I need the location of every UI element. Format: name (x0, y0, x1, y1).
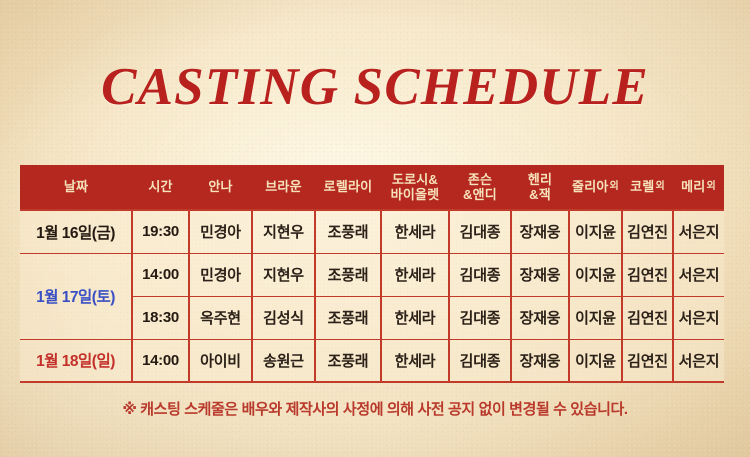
cell-actor: 한세라 (381, 296, 449, 339)
cell-actor: 장재웅 (511, 253, 569, 296)
column-header-label: 존슨 (468, 172, 492, 187)
cell-actor: 서은지 (673, 253, 724, 296)
cell-actor: 한세라 (381, 253, 449, 296)
cell-actor: 김대종 (449, 296, 511, 339)
cell-actor: 민경아 (189, 210, 252, 253)
column-header-8: 줄리아외 (569, 165, 622, 210)
cell-actor: 서은지 (673, 339, 724, 382)
cell-actor: 송원근 (252, 339, 315, 382)
cell-actor: 장재웅 (511, 210, 569, 253)
disclaimer-note: ※ 캐스팅 스케줄은 배우와 제작사의 사정에 의해 사전 공지 없이 변경될 … (0, 398, 750, 419)
cell-actor: 김대종 (449, 210, 511, 253)
column-header-label-line2: &앤디 (449, 187, 511, 202)
column-header-label: 도로시& (392, 172, 438, 187)
column-header-label: 헨리 (528, 172, 552, 187)
column-header-6: 존슨&앤디 (449, 165, 511, 210)
column-header-7: 헨리&잭 (511, 165, 569, 210)
cell-actor: 서은지 (673, 210, 724, 253)
column-header-label: 브라운 (265, 179, 301, 194)
cell-actor: 서은지 (673, 296, 724, 339)
column-header-0: 날짜 (20, 165, 132, 210)
casting-schedule-table: 날짜시간안나브라운로렐라이도로시&바이올렛존슨&앤디헨리&잭줄리아외코렐외메리외… (20, 165, 724, 383)
cell-actor: 조풍래 (315, 296, 381, 339)
cell-time: 14:00 (132, 253, 189, 296)
cell-actor: 지현우 (252, 210, 315, 253)
cell-actor: 한세라 (381, 339, 449, 382)
page-title: CASTING SCHEDULE (0, 57, 750, 117)
column-header-10: 메리외 (673, 165, 724, 210)
cell-actor: 민경아 (189, 253, 252, 296)
cell-actor: 아이비 (189, 339, 252, 382)
table-header: 날짜시간안나브라운로렐라이도로시&바이올렛존슨&앤디헨리&잭줄리아외코렐외메리외 (20, 165, 724, 210)
cell-actor: 김연진 (622, 296, 673, 339)
cell-actor: 장재웅 (511, 339, 569, 382)
column-header-label: 코렐 (630, 179, 654, 194)
poster-background: CASTING SCHEDULE 날짜시간안나브라운로렐라이도로시&바이올렛존슨… (0, 0, 750, 457)
column-header-label: 줄리아 (572, 179, 608, 194)
column-header-label: 로렐라이 (324, 179, 373, 194)
column-header-1: 시간 (132, 165, 189, 210)
column-header-label-line2: &잭 (511, 187, 569, 202)
column-header-label-line2: 바이올렛 (381, 187, 449, 202)
column-header-5: 도로시&바이올렛 (381, 165, 449, 210)
table-row: 1월 16일(금)19:30민경아지현우조풍래한세라김대종장재웅이지윤김연진서은… (20, 210, 724, 253)
table-row: 1월 17일(토)14:00민경아지현우조풍래한세라김대종장재웅이지윤김연진서은… (20, 253, 724, 296)
cell-date: 1월 16일(금) (20, 210, 132, 253)
cell-actor: 이지윤 (569, 210, 622, 253)
cell-actor: 조풍래 (315, 210, 381, 253)
table-row: 1월 18일(일)14:00아이비송원근조풍래한세라김대종장재웅이지윤김연진서은… (20, 339, 724, 382)
table-body: 1월 16일(금)19:30민경아지현우조풍래한세라김대종장재웅이지윤김연진서은… (20, 210, 724, 382)
column-header-2: 안나 (189, 165, 252, 210)
cell-actor: 조풍래 (315, 339, 381, 382)
column-header-suffix: 외 (655, 181, 664, 192)
cell-actor: 김연진 (622, 210, 673, 253)
cell-date: 1월 17일(토) (20, 253, 132, 339)
table-header-row: 날짜시간안나브라운로렐라이도로시&바이올렛존슨&앤디헨리&잭줄리아외코렐외메리외 (20, 165, 724, 210)
column-header-label: 날짜 (64, 179, 88, 194)
column-header-suffix: 외 (610, 181, 619, 192)
cell-actor: 김대종 (449, 339, 511, 382)
cell-actor: 김대종 (449, 253, 511, 296)
cell-actor: 이지윤 (569, 253, 622, 296)
cell-actor: 한세라 (381, 210, 449, 253)
cell-date: 1월 18일(일) (20, 339, 132, 382)
cell-actor: 김성식 (252, 296, 315, 339)
column-header-9: 코렐외 (622, 165, 673, 210)
cell-actor: 조풍래 (315, 253, 381, 296)
cell-time: 18:30 (132, 296, 189, 339)
cell-actor: 김연진 (622, 339, 673, 382)
column-header-label: 메리 (681, 179, 705, 194)
column-header-4: 로렐라이 (315, 165, 381, 210)
cell-actor: 이지윤 (569, 296, 622, 339)
column-header-label: 시간 (148, 179, 172, 194)
cell-time: 19:30 (132, 210, 189, 253)
column-header-3: 브라운 (252, 165, 315, 210)
cell-actor: 김연진 (622, 253, 673, 296)
cell-actor: 이지윤 (569, 339, 622, 382)
cell-actor: 지현우 (252, 253, 315, 296)
casting-schedule-table-container: 날짜시간안나브라운로렐라이도로시&바이올렛존슨&앤디헨리&잭줄리아외코렐외메리외… (20, 165, 724, 383)
column-header-label: 안나 (208, 179, 232, 194)
cell-actor: 옥주현 (189, 296, 252, 339)
column-header-suffix: 외 (706, 181, 715, 192)
cell-time: 14:00 (132, 339, 189, 382)
cell-actor: 장재웅 (511, 296, 569, 339)
